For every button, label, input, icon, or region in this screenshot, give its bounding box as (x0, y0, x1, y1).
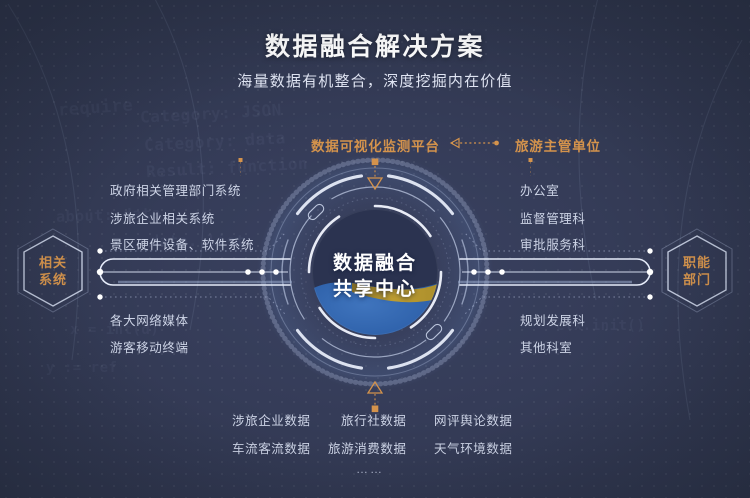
left-label-top-2[interactable]: 景区硬件设备、软件系统 (110, 234, 254, 253)
right-hex-label[interactable]: 职能 部门 (657, 254, 737, 288)
left-label-top-1[interactable]: 涉旅企业相关系统 (110, 208, 215, 227)
left-hex-line2: 系统 (13, 271, 93, 288)
right-label-top-1[interactable]: 监督管理科 (520, 208, 586, 227)
right-label-bottom-1[interactable]: 其他科室 (520, 337, 572, 356)
right-hex-line1: 职能 (657, 254, 737, 271)
bottom-label-r1c0[interactable]: 车流客流数据 (232, 438, 311, 457)
bottom-label-r1c2[interactable]: 天气环境数据 (434, 438, 513, 457)
label-tourism-authority[interactable]: 旅游主管单位 (515, 135, 601, 155)
page-title: 数据融合解决方案 (0, 27, 750, 63)
bottom-label-r0c1[interactable]: 旅行社数据 (341, 410, 407, 429)
label-visualization-platform[interactable]: 数据可视化监测平台 (311, 135, 440, 155)
bottom-label-ellipsis: …… (356, 462, 384, 476)
bottom-label-r0c0[interactable]: 涉旅企业数据 (232, 410, 311, 429)
left-label-top-0[interactable]: 政府相关管理部门系统 (110, 180, 241, 199)
right-hex-line2: 部门 (657, 271, 737, 288)
bottom-label-r0c2[interactable]: 网评舆论数据 (434, 410, 513, 429)
right-label-bottom-0[interactable]: 规划发展科 (520, 310, 586, 329)
left-label-bottom-0[interactable]: 各大网络媒体 (110, 310, 189, 329)
core-label-line2: 共享中心 (0, 277, 750, 303)
bg-code-2: Category: data (144, 128, 287, 154)
right-label-top-2[interactable]: 审批服务科 (520, 234, 586, 253)
left-hex-line1: 相关 (13, 254, 93, 271)
bottom-label-r1c1[interactable]: 旅游消费数据 (328, 438, 407, 457)
right-label-top-0[interactable]: 办公室 (520, 180, 559, 199)
core-label-line1: 数据融合 (0, 251, 750, 277)
bg-code-0: require (57, 95, 133, 120)
left-hex-label[interactable]: 相关 系统 (13, 254, 93, 288)
left-label-bottom-1[interactable]: 游客移动终端 (110, 337, 189, 356)
bg-code-1: Category: JSON (140, 100, 283, 126)
page-subtitle: 海量数据有机整合，深度挖掘内在价值 (0, 70, 750, 91)
core-label: 数据融合 共享中心 (0, 251, 750, 303)
infographic-canvas: require Category: JSON Category: data Re… (0, 0, 750, 498)
bg-code-7: y := ref (46, 360, 117, 376)
bg-code-3: Result: function (146, 154, 309, 181)
